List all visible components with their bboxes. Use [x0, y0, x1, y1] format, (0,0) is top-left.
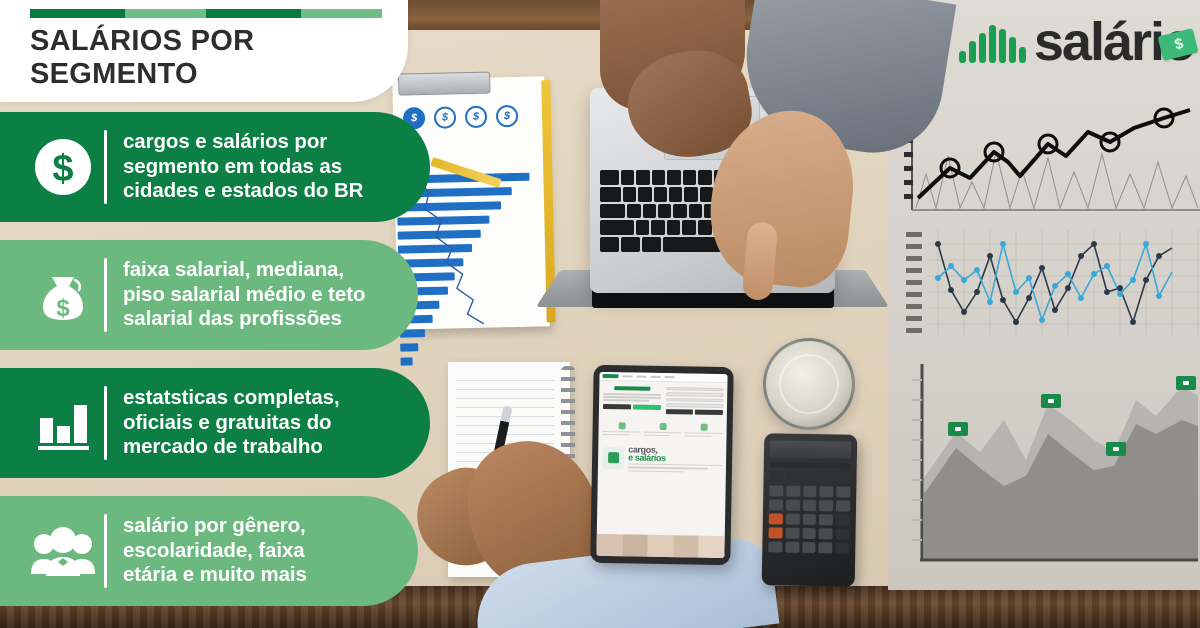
keyboard-key	[667, 220, 681, 235]
logo-bar	[989, 25, 996, 63]
tablet-device: cargos, e salários	[590, 365, 733, 565]
calculator	[762, 433, 858, 587]
calculator-key	[819, 542, 833, 553]
calculator-keypad	[768, 471, 850, 553]
calculator-key	[786, 486, 800, 497]
title-card: SALÁRIOS POR SEGMENTO	[0, 0, 408, 102]
keyboard-key	[627, 204, 640, 219]
clipboard-clamp	[398, 72, 490, 96]
trend-line-chart	[898, 70, 1200, 220]
keyboard-key	[669, 187, 682, 202]
calculator-key	[836, 500, 850, 511]
logo-bar	[1019, 47, 1026, 63]
calculator-key	[785, 542, 799, 553]
feature-card-2[interactable]: $ faixa salarial, mediana, piso salarial…	[0, 240, 418, 350]
keyboard-key	[621, 170, 634, 185]
title-stripe-segment	[125, 9, 206, 18]
feature-card-1[interactable]: $ cargos e salários por segmento em toda…	[0, 112, 430, 222]
calculator-key	[802, 542, 816, 553]
title-stripe-bar	[30, 9, 382, 18]
keyboard-key	[636, 170, 649, 185]
bar-chart-icon	[26, 392, 100, 454]
tablet-photo-strip	[596, 534, 724, 558]
logo-bar	[959, 51, 966, 63]
keyboard-key	[600, 187, 621, 202]
logo-bar	[1009, 37, 1016, 63]
calculator-key	[803, 472, 817, 483]
logo-bar	[969, 41, 976, 63]
calculator-key	[769, 471, 783, 482]
keyboard-key	[600, 220, 634, 235]
poster-canvas: cargos, e salários SALÁRI	[0, 0, 1200, 628]
logo-bar	[999, 29, 1006, 63]
keyboard-key	[600, 170, 619, 185]
feature-card-4[interactable]: salário por gênero, escolaridade, faixa …	[0, 496, 418, 606]
dollar-badge-icon	[496, 105, 518, 127]
stacked-area-chart	[898, 360, 1200, 588]
calculator-key	[802, 528, 816, 539]
money-bag-icon: $	[26, 264, 100, 326]
tablet-feature-cards	[598, 417, 726, 442]
calculator-key	[786, 514, 800, 525]
calculator-key	[786, 472, 800, 483]
people-group-icon	[26, 520, 100, 582]
calculator-display	[770, 440, 851, 458]
keyboard-key	[636, 220, 650, 235]
calculator-key	[769, 513, 783, 524]
tablet-screen: cargos, e salários	[596, 372, 727, 558]
calculator-key	[769, 527, 783, 538]
keyboard-key	[643, 204, 656, 219]
keyboard-key	[638, 187, 651, 202]
keyboard-key	[698, 170, 711, 185]
calculator-key	[820, 472, 834, 483]
keyboard-key	[621, 237, 640, 252]
keyboard-key	[658, 204, 671, 219]
dual-series-line-chart	[898, 222, 1200, 354]
keyboard-key	[642, 237, 661, 252]
calculator-key	[836, 486, 850, 497]
keyboard-key	[689, 204, 702, 219]
title-stripe-segment	[301, 9, 382, 18]
tablet-site-logo	[603, 374, 619, 378]
keyboard-key	[673, 204, 686, 219]
keyboard-key	[600, 204, 625, 219]
tablet-hero-section	[599, 381, 728, 420]
feature-text-1: cargos e salários por segmento em todas …	[123, 130, 381, 204]
calculator-key	[768, 541, 782, 552]
keyboard-key	[683, 170, 696, 185]
logo-bar	[979, 33, 986, 63]
keyboard-key	[667, 170, 680, 185]
calculator-key	[803, 486, 817, 497]
calculator-key	[819, 528, 833, 539]
svg-text:$: $	[52, 148, 73, 190]
calculator-key	[836, 514, 850, 525]
tablet-section-icon	[602, 447, 624, 469]
logo-bars-icon	[959, 23, 1026, 63]
calculator-key	[803, 500, 817, 511]
feature-card-list: $ cargos e salários por segmento em toda…	[0, 112, 470, 624]
tablet-headline-2: e salários	[628, 453, 722, 463]
feature-text-3: estatsticas completas, oficiais e gratui…	[123, 386, 358, 460]
salario-logo[interactable]: salário	[959, 18, 1194, 68]
feature-text-4: salário por gênero, escolaridade, faixa …	[123, 514, 325, 588]
card-divider	[104, 386, 107, 460]
card-divider	[104, 258, 107, 332]
keyboard-key	[600, 237, 619, 252]
keyboard-key	[654, 187, 667, 202]
keyboard-key	[684, 187, 697, 202]
calculator-key	[836, 528, 850, 539]
title-stripe-segment	[206, 9, 301, 18]
calculator-key	[837, 472, 851, 483]
dollar-circle-icon: $	[26, 136, 100, 198]
keyboard-key	[698, 220, 712, 235]
calculator-key	[802, 514, 816, 525]
keyboard-key	[623, 187, 636, 202]
svg-text:$: $	[56, 295, 70, 322]
calculator-key	[769, 499, 783, 510]
card-divider	[104, 130, 107, 204]
calculator-key	[786, 500, 800, 511]
tablet-cargos-section: cargos, e salários	[598, 440, 727, 477]
keyboard-key	[651, 220, 665, 235]
page-title: SALÁRIOS POR SEGMENTO	[30, 25, 408, 91]
calculator-key	[819, 500, 833, 511]
keyboard-key	[682, 220, 696, 235]
card-divider	[104, 514, 107, 588]
calculator-key	[819, 514, 833, 525]
feature-card-3[interactable]: estatsticas completas, oficiais e gratui…	[0, 368, 430, 478]
feature-text-2: faixa salarial, mediana, piso salarial m…	[123, 258, 383, 332]
logo-wordmark: salário	[1034, 18, 1194, 68]
title-stripe-segment	[30, 9, 125, 18]
calculator-solar-panel	[770, 462, 851, 468]
calculator-key	[769, 485, 783, 496]
keyboard-key	[652, 170, 665, 185]
calculator-key	[820, 486, 834, 497]
calculator-key	[835, 542, 849, 553]
calculator-key	[785, 528, 799, 539]
drinking-glass	[763, 338, 855, 430]
